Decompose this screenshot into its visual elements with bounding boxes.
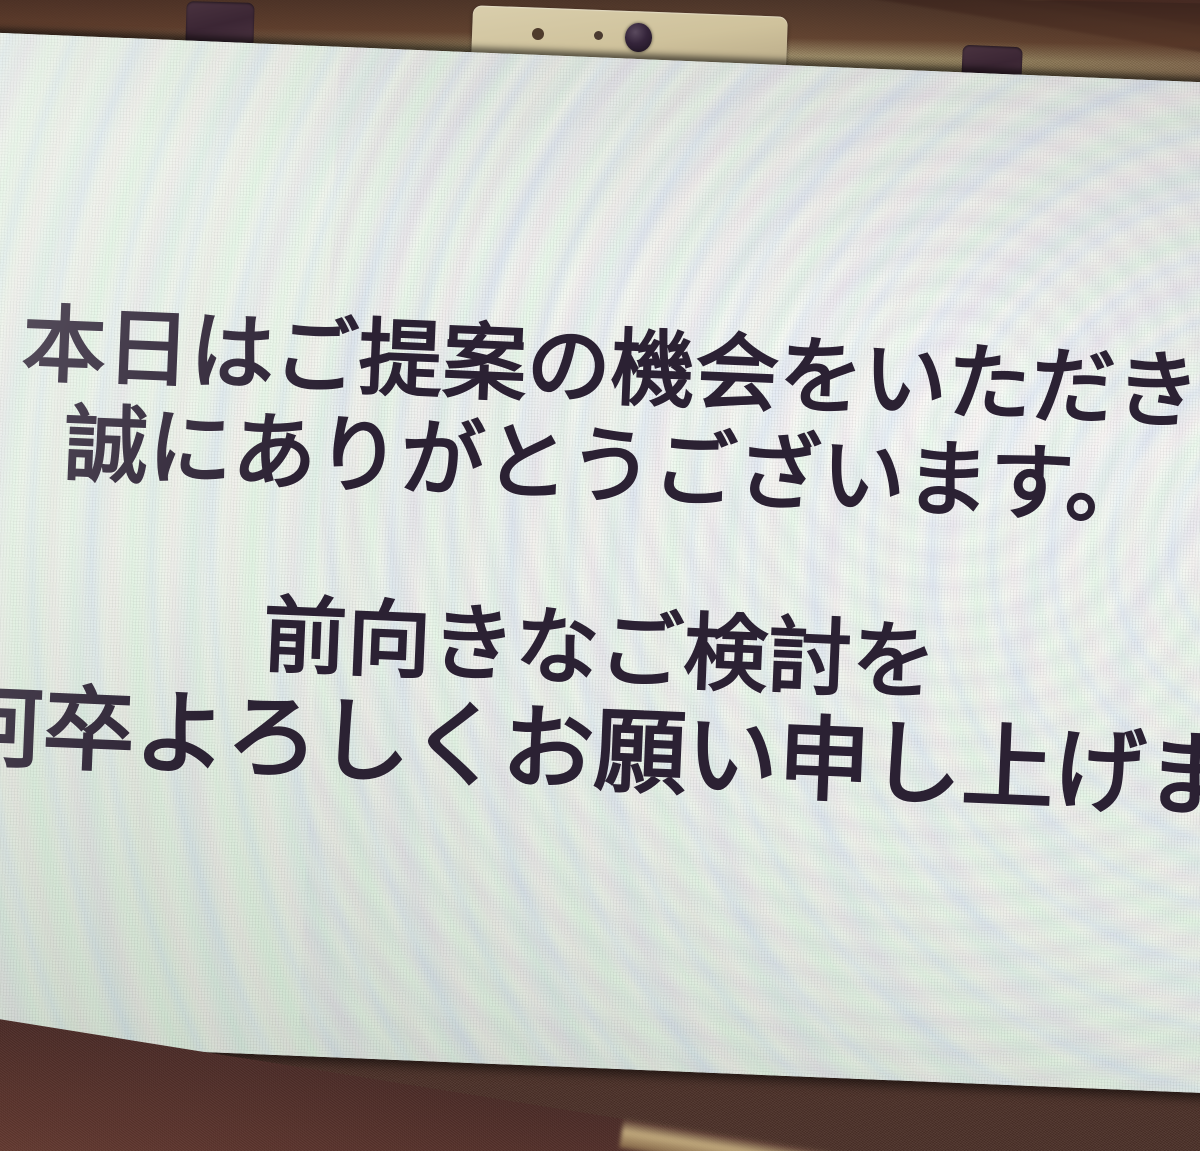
laptop-screen: 本日はご提案の機会をいただき 誠にありがとうございます。 前向きなご検討を 何卒… (0, 32, 1200, 1094)
camera-indicator-dot-icon (532, 28, 544, 40)
microphone-pinhole-icon (594, 31, 603, 40)
photo-canvas: 本日はご提案の機会をいただき 誠にありがとうございます。 前向きなご検討を 何卒… (0, 0, 1200, 1151)
screen-glare (0, 32, 1200, 1094)
